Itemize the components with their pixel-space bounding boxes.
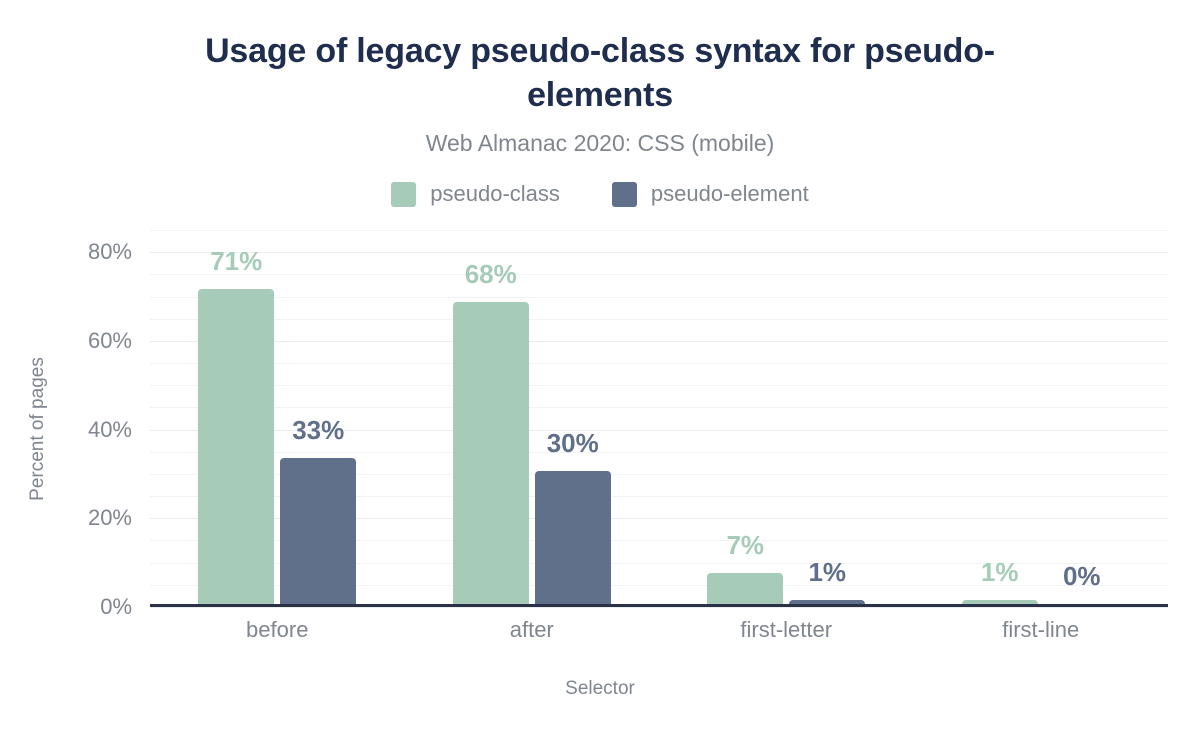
bar[interactable] <box>535 471 611 604</box>
bar-wrapper: 1% <box>962 230 1038 604</box>
gridline <box>150 607 1168 608</box>
chart-container: Usage of legacy pseudo-class syntax for … <box>0 0 1200 742</box>
bar-wrapper: 30% <box>535 230 611 604</box>
legend-item-pseudo-class[interactable]: pseudo-class <box>391 181 560 207</box>
bar-value-label: 71% <box>210 246 262 277</box>
chart-title: Usage of legacy pseudo-class syntax for … <box>0 30 1200 117</box>
bar-group: 1%0% <box>914 230 1169 607</box>
x-axis: beforeafterfirst-letterfirst-line <box>150 617 1168 643</box>
x-axis-tick-label: first-letter <box>659 617 914 643</box>
x-axis-baseline <box>150 604 1168 607</box>
bar-group: 68%30% <box>405 230 660 607</box>
bar-value-label: 68% <box>465 259 517 290</box>
bar-wrapper: 7% <box>707 230 783 604</box>
legend-item-pseudo-element[interactable]: pseudo-element <box>612 181 809 207</box>
x-axis-title: Selector <box>0 678 1200 700</box>
bar-value-label: 1% <box>808 557 846 588</box>
bar-wrapper: 0% <box>1044 230 1120 604</box>
bar-value-label: 1% <box>981 557 1019 588</box>
legend-label: pseudo-element <box>651 181 809 207</box>
bar[interactable] <box>198 289 274 604</box>
x-axis-tick-label: before <box>150 617 405 643</box>
y-axis-tick-label: 0% <box>100 594 132 620</box>
plot-area: 71%33%68%30%7%1%1%0% <box>150 230 1168 607</box>
bar[interactable] <box>453 302 529 604</box>
bar-value-label: 33% <box>292 415 344 446</box>
bar-wrapper: 68% <box>453 230 529 604</box>
bar-value-label: 30% <box>547 428 599 459</box>
bar[interactable] <box>707 573 783 604</box>
y-axis-tick-label: 60% <box>88 328 132 354</box>
x-axis-tick-label: first-line <box>914 617 1169 643</box>
y-axis-tick-label: 80% <box>88 239 132 265</box>
chart-legend: pseudo-class pseudo-element <box>0 181 1200 207</box>
bar-value-label: 0% <box>1063 561 1101 592</box>
bar-group: 7%1% <box>659 230 914 607</box>
x-axis-tick-label: after <box>405 617 660 643</box>
legend-swatch-icon <box>391 182 416 207</box>
bar-wrapper: 71% <box>198 230 274 604</box>
bar-wrapper: 1% <box>789 230 865 604</box>
legend-label: pseudo-class <box>430 181 560 207</box>
y-axis-tick-label: 40% <box>88 417 132 443</box>
bar-value-label: 7% <box>726 530 764 561</box>
bar[interactable] <box>280 458 356 604</box>
bar-group: 71%33% <box>150 230 405 607</box>
y-axis-title: Percent of pages <box>27 329 49 529</box>
bars-layer: 71%33%68%30%7%1%1%0% <box>150 230 1168 607</box>
bar-wrapper: 33% <box>280 230 356 604</box>
y-axis-tick-label: 20% <box>88 505 132 531</box>
chart-subtitle: Web Almanac 2020: CSS (mobile) <box>0 130 1200 157</box>
legend-swatch-icon <box>612 182 637 207</box>
